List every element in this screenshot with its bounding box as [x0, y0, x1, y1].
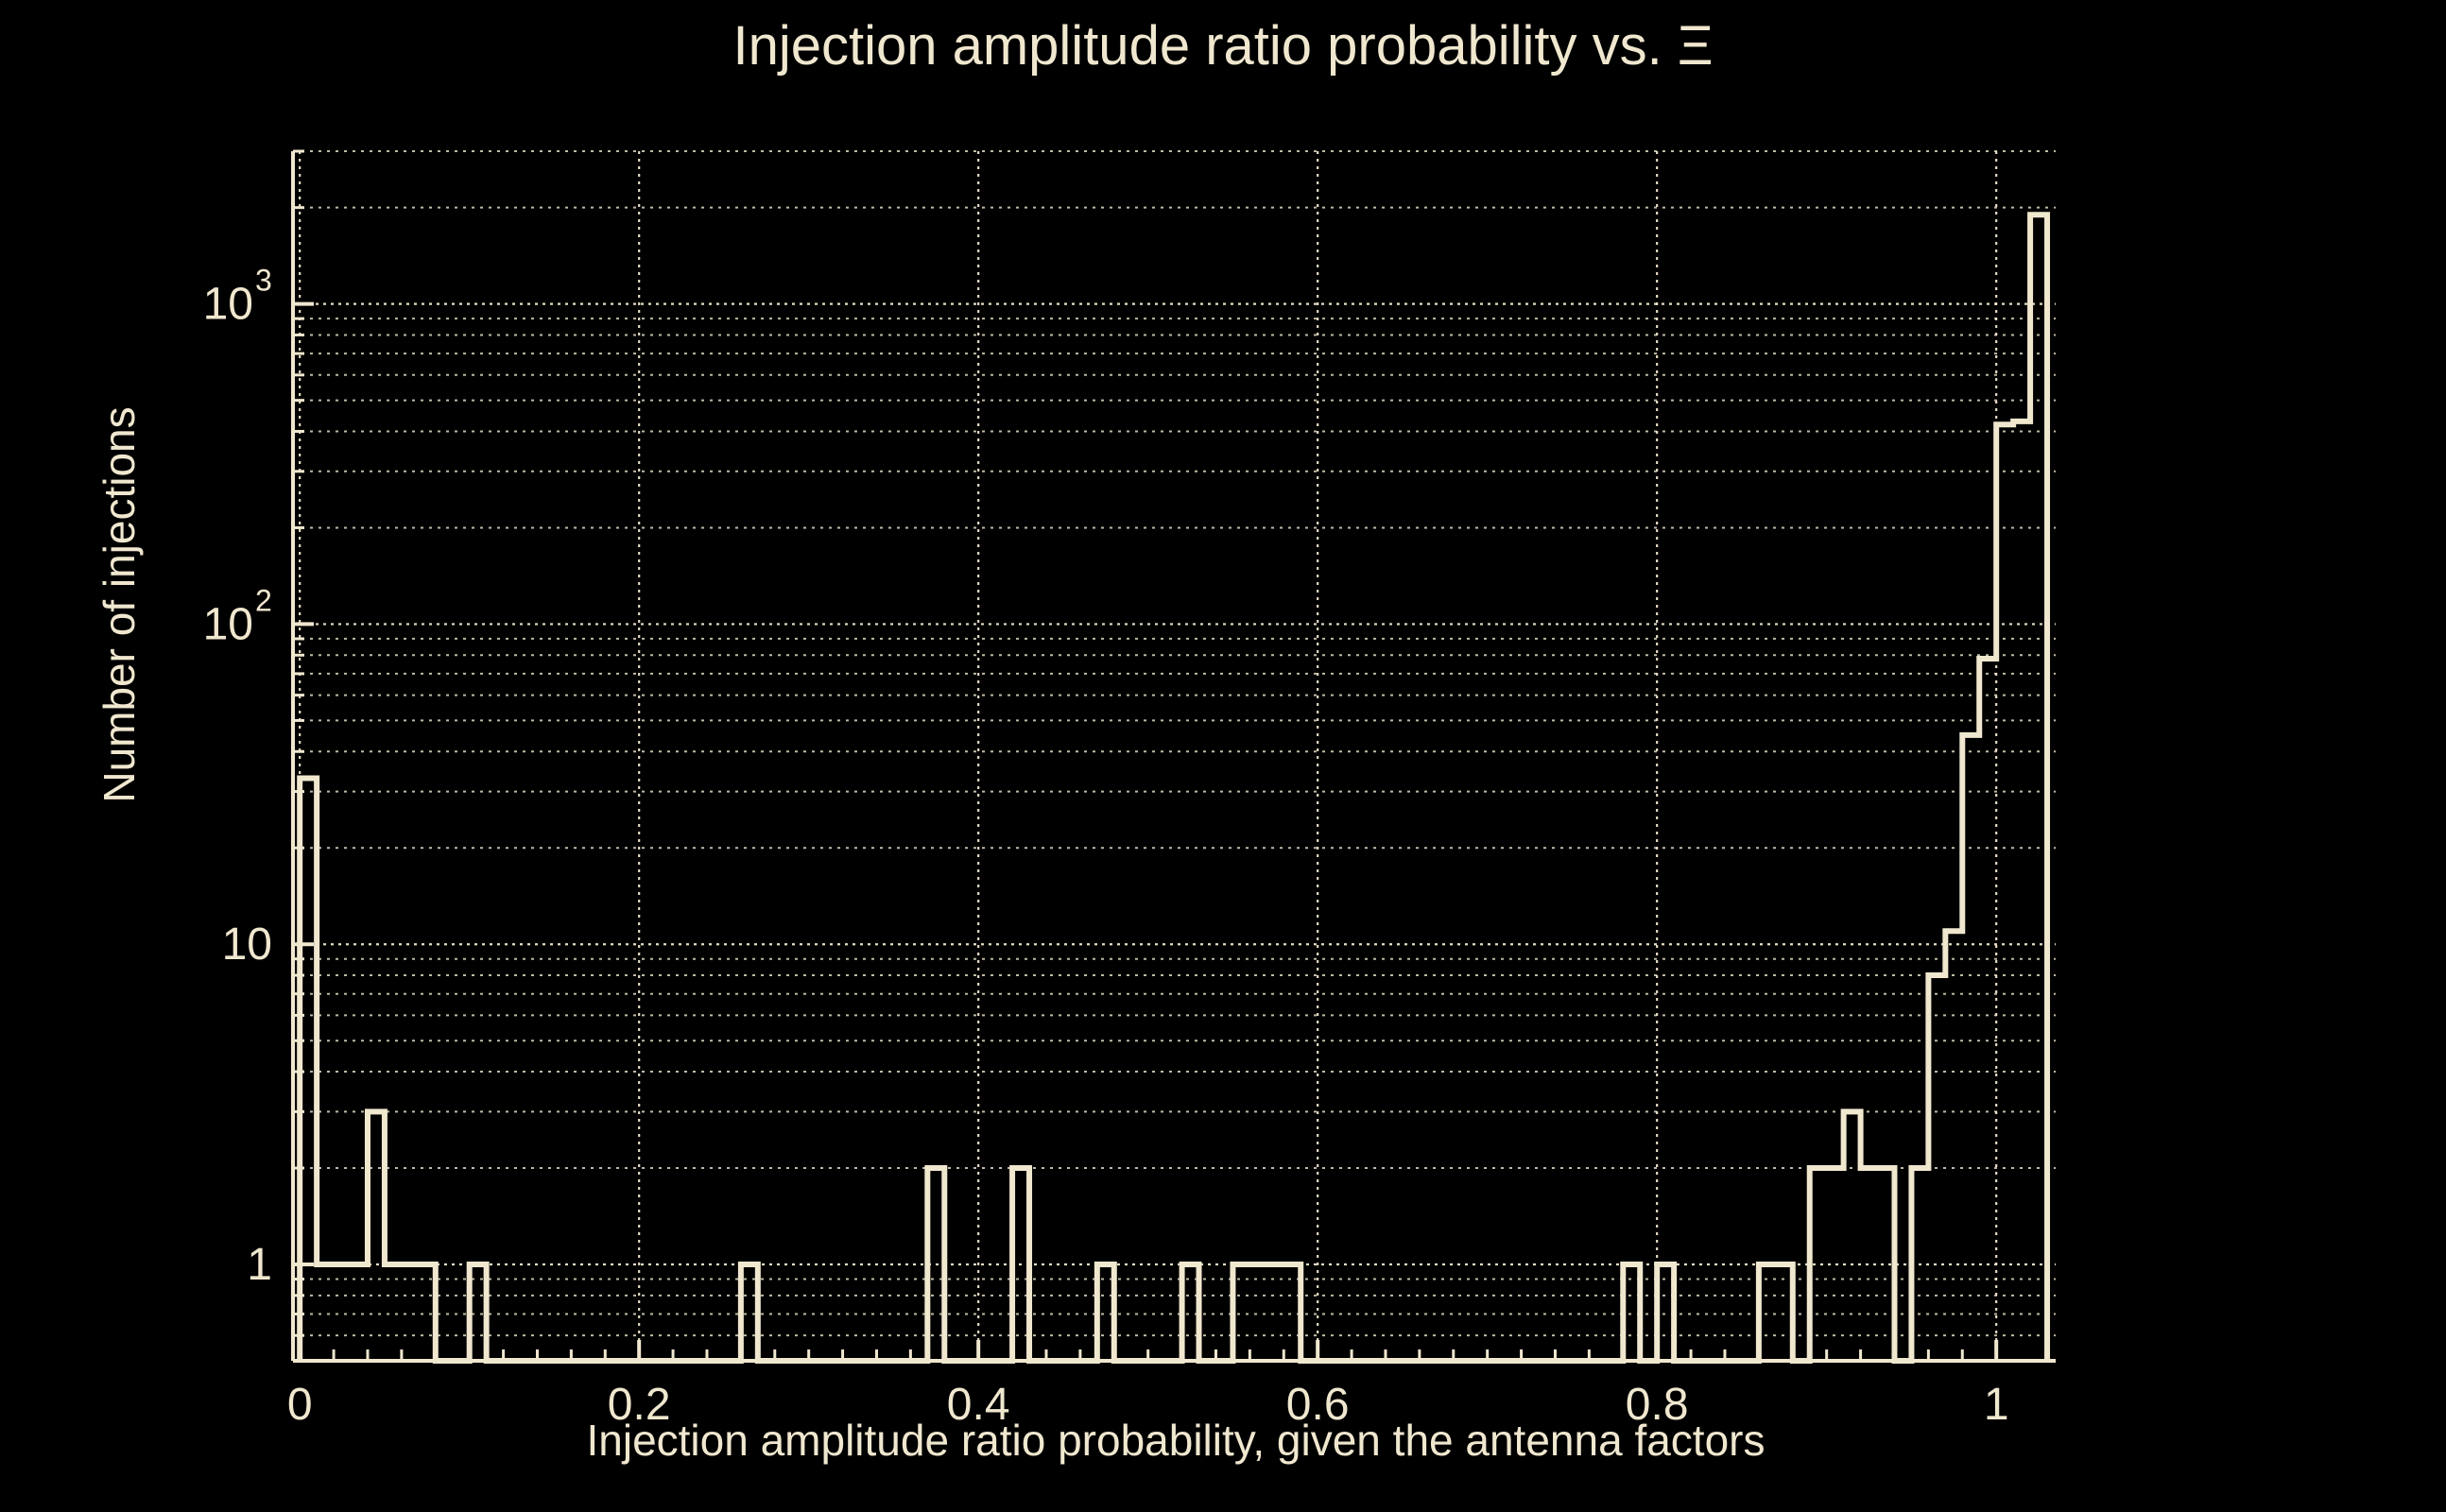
- histogram-figure: Injection amplitude ratio probability vs…: [0, 0, 2446, 1512]
- figure-background: [0, 0, 2446, 1512]
- x-axis-label: Injection amplitude ratio probability, g…: [586, 1416, 1765, 1465]
- y-axis-label: Number of injections: [95, 406, 144, 802]
- chart-title: Injection amplitude ratio probability vs…: [732, 15, 1713, 77]
- svg-text:10: 10: [203, 599, 253, 649]
- x-tick-label: 0: [287, 1380, 313, 1430]
- x-tick-label: 0.6: [1286, 1380, 1350, 1430]
- svg-text:10: 10: [222, 919, 272, 970]
- y-tick-label: 1: [247, 1240, 272, 1290]
- svg-text:3: 3: [255, 264, 272, 298]
- plot-canvas: Injection amplitude ratio probability vs…: [0, 0, 2446, 1512]
- x-tick-label: 0.2: [608, 1380, 671, 1430]
- x-tick-label: 0.4: [947, 1380, 1010, 1430]
- svg-text:2: 2: [255, 583, 272, 617]
- svg-text:1: 1: [247, 1240, 272, 1290]
- y-tick-label: 10: [222, 919, 272, 970]
- x-tick-label: 0.8: [1626, 1380, 1689, 1430]
- svg-text:10: 10: [203, 280, 253, 330]
- x-tick-label: 1: [1984, 1380, 2009, 1430]
